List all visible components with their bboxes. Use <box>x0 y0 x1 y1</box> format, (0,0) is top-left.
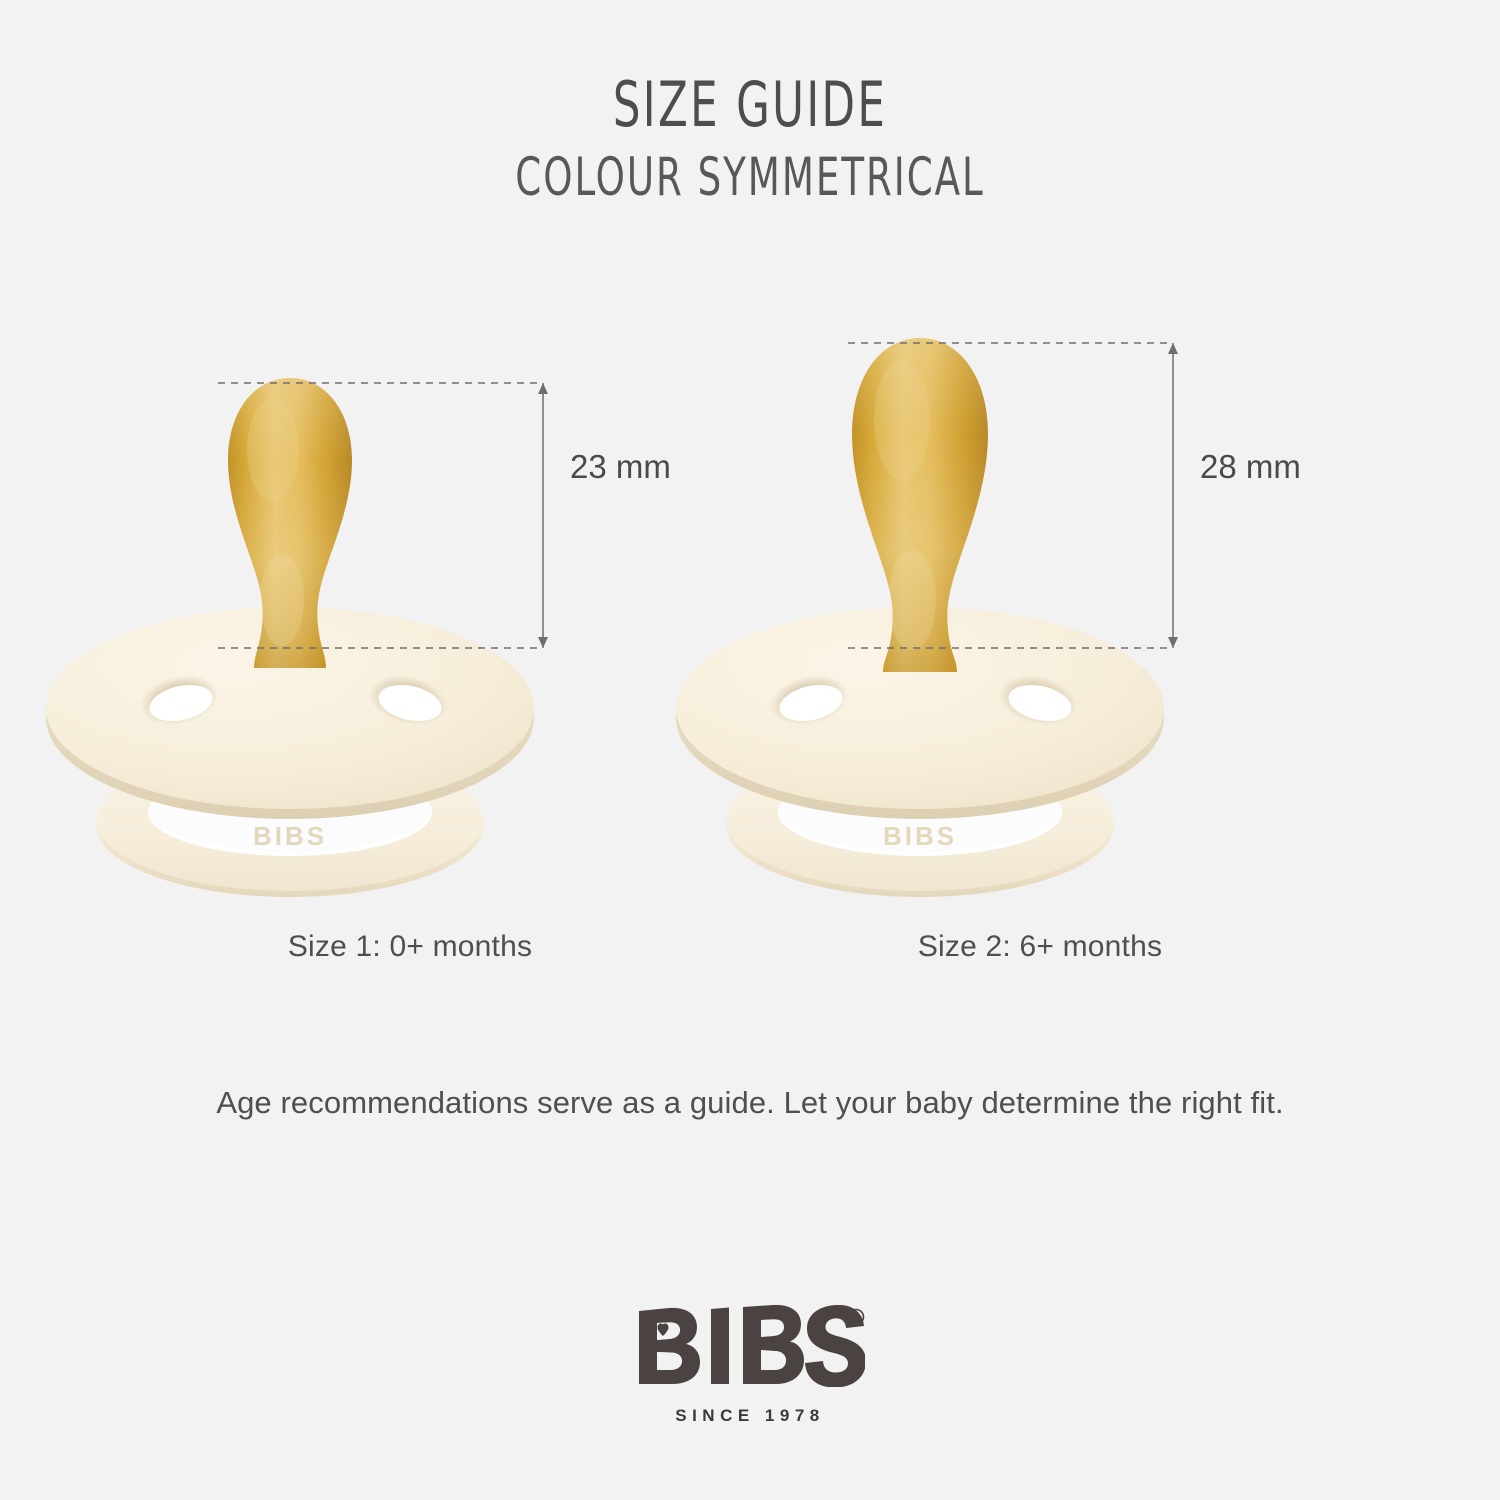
measurement-label-size-1: 23 mm <box>570 448 671 485</box>
svg-text:R: R <box>852 1314 860 1325</box>
pacifier-illustration-size-2: BIBS <box>690 300 1390 1000</box>
ring-emboss-label: BIBS <box>253 821 327 851</box>
ring-emboss-label: BIBS <box>883 821 957 851</box>
brand-tagline: SINCE 1978 <box>0 1406 1500 1426</box>
bibs-logo: R <box>635 1305 865 1392</box>
product-size-2: BIBS <box>690 300 1390 1000</box>
size-caption-1: Size 1: 0+ months <box>60 930 760 964</box>
product-size-1: BIBS <box>60 300 760 1000</box>
brand-block: R SINCE 1978 <box>0 1305 1500 1426</box>
age-recommendation-note: Age recommendations serve as a guide. Le… <box>0 1085 1500 1121</box>
bibs-wordmark-icon: R <box>635 1305 865 1387</box>
heading-block: SIZE GUIDE COLOUR SYMMETRICAL <box>0 72 1500 208</box>
page-title: SIZE GUIDE <box>165 72 1335 137</box>
measurement-label-size-2: 28 mm <box>1200 448 1301 485</box>
size-caption-2: Size 2: 6+ months <box>690 930 1390 964</box>
pacifier-illustration-size-1: BIBS <box>60 300 760 1000</box>
size-guide-page: SIZE GUIDE COLOUR SYMMETRICAL <box>0 0 1500 1500</box>
product-comparison: BIBS <box>0 300 1500 1000</box>
page-subtitle: COLOUR SYMMETRICAL <box>165 147 1335 208</box>
